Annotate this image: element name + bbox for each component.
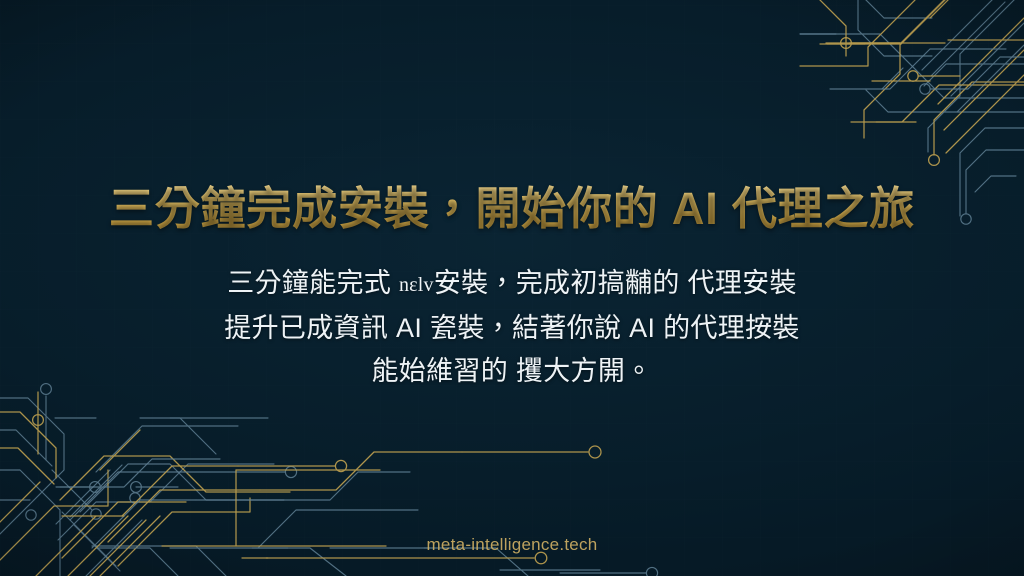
subtitle-line-2: 提升已成資訊 AI 瓷裝，結著你說 AI 的代理按裝: [0, 307, 1024, 350]
subtitle-line-1: 三分鐘能完式 nɛlv安裝，完成初搞黼的 代理安裝: [0, 262, 1024, 307]
subtitle-line-1-part-b: 安裝，完成初搞黼的 代理安裝: [434, 268, 797, 298]
footer-url: meta-intelligence.tech: [0, 535, 1024, 555]
slide-subtitle: 三分鐘能完式 nɛlv安裝，完成初搞黼的 代理安裝 提升已成資訊 AI 瓷裝，結…: [0, 262, 1024, 393]
slide-title: 三分鐘完成安裝，開始你的 AI 代理之旅: [0, 182, 1024, 235]
slide-canvas: 三分鐘完成安裝，開始你的 AI 代理之旅 三分鐘能完式 nɛlv安裝，完成初搞黼…: [0, 0, 1024, 576]
subtitle-line-1-latin: nɛlv: [399, 274, 434, 296]
subtitle-line-1-part-a: 三分鐘能完式: [227, 268, 399, 298]
subtitle-line-3: 能始維習的 攫大方開。: [0, 350, 1024, 393]
